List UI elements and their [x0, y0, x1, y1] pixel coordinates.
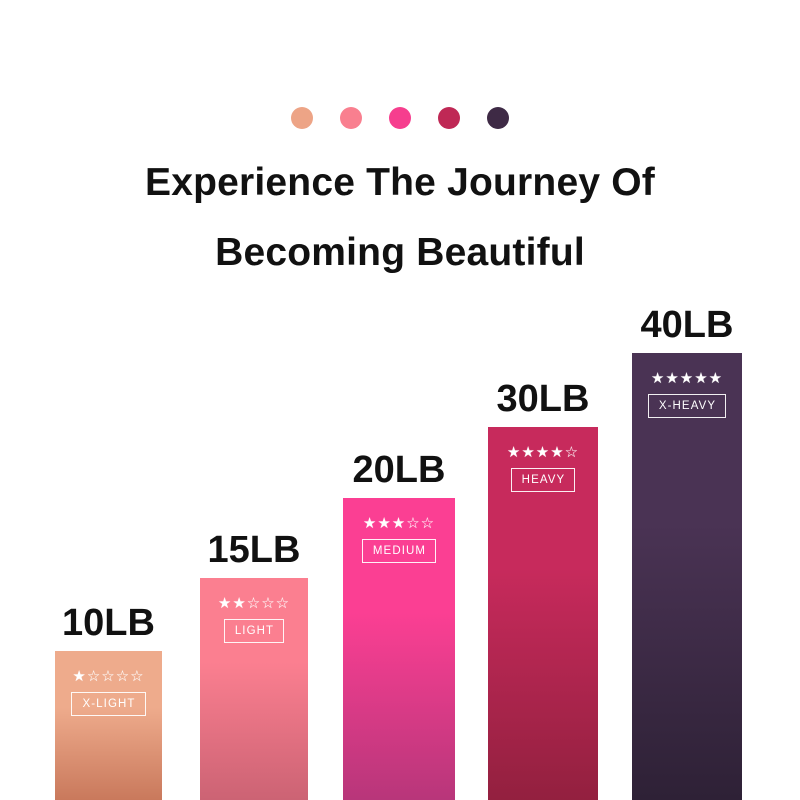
level-badge-medium: MEDIUM: [362, 539, 436, 563]
bar-column-15lb[interactable]: 15LB★★☆☆☆LIGHT: [200, 578, 308, 800]
bar-content: ★★★★★X-HEAVY: [632, 371, 742, 418]
level-badge-light: LIGHT: [224, 619, 284, 643]
star-rating-15lb: ★★☆☆☆: [218, 596, 290, 612]
resistance-bar-chart: 10LB★☆☆☆☆X-LIGHT15LB★★☆☆☆LIGHT20LB★★★☆☆M…: [0, 0, 800, 800]
bar-content: ★★★★☆HEAVY: [488, 445, 598, 492]
infographic-canvas: Experience The Journey Of Becoming Beaut…: [0, 0, 800, 800]
bar-content: ★☆☆☆☆X-LIGHT: [55, 669, 162, 716]
bar-column-10lb[interactable]: 10LB★☆☆☆☆X-LIGHT: [55, 651, 162, 800]
bar-fill-40lb: ★★★★★X-HEAVY: [632, 353, 742, 800]
bar-weight-label-40lb: 40LB: [641, 303, 734, 347]
bar-weight-label-20lb: 20LB: [353, 448, 446, 492]
bar-column-20lb[interactable]: 20LB★★★☆☆MEDIUM: [343, 498, 455, 800]
star-rating-20lb: ★★★☆☆: [363, 516, 435, 532]
bar-column-40lb[interactable]: 40LB★★★★★X-HEAVY: [632, 353, 742, 800]
bar-weight-label-15lb: 15LB: [208, 528, 301, 572]
bar-content: ★★★☆☆MEDIUM: [343, 516, 455, 563]
bar-fill-20lb: ★★★☆☆MEDIUM: [343, 498, 455, 800]
bar-column-30lb[interactable]: 30LB★★★★☆HEAVY: [488, 427, 598, 800]
bar-content: ★★☆☆☆LIGHT: [200, 596, 308, 643]
bar-weight-label-30lb: 30LB: [497, 377, 590, 421]
bar-fill-30lb: ★★★★☆HEAVY: [488, 427, 598, 800]
level-badge-x-light: X-LIGHT: [71, 692, 145, 716]
bar-fill-15lb: ★★☆☆☆LIGHT: [200, 578, 308, 800]
star-rating-10lb: ★☆☆☆☆: [72, 669, 144, 685]
level-badge-x-heavy: X-HEAVY: [648, 394, 726, 418]
star-rating-30lb: ★★★★☆: [507, 445, 579, 461]
bar-weight-label-10lb: 10LB: [62, 601, 155, 645]
bar-fill-10lb: ★☆☆☆☆X-LIGHT: [55, 651, 162, 800]
level-badge-heavy: HEAVY: [511, 468, 576, 492]
star-rating-40lb: ★★★★★: [651, 371, 723, 387]
